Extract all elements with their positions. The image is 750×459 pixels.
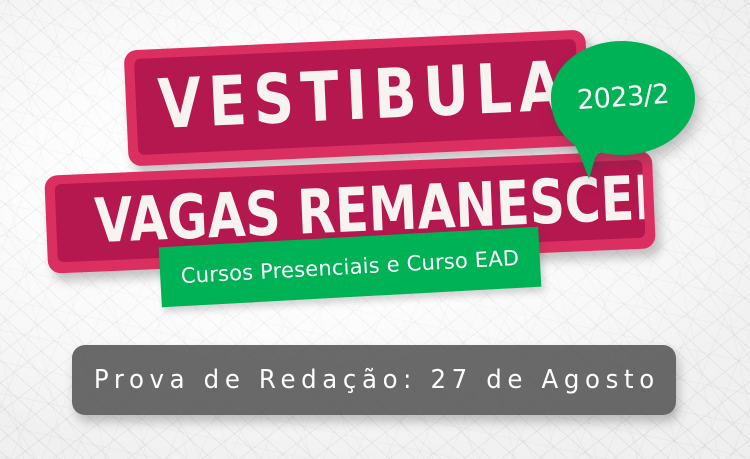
term-speech-bubble: 2023/2 <box>548 38 698 186</box>
headline-primary-text: VESTIBULAR <box>134 39 580 155</box>
date-notice-text: Prova de Redação: 27 de Agosto <box>90 345 658 415</box>
headline-ribbon-primary: VESTIBULAR <box>124 30 591 167</box>
headline-ribbon-primary-inner: VESTIBULAR <box>134 39 580 155</box>
promotional-banner: VESTIBULAR 2023/2 VAGAS REMANESCENTES Cu… <box>0 0 750 459</box>
term-badge-label: 2023/2 <box>544 33 702 161</box>
date-notice-bar: Prova de Redação: 27 de Agosto <box>72 345 676 415</box>
